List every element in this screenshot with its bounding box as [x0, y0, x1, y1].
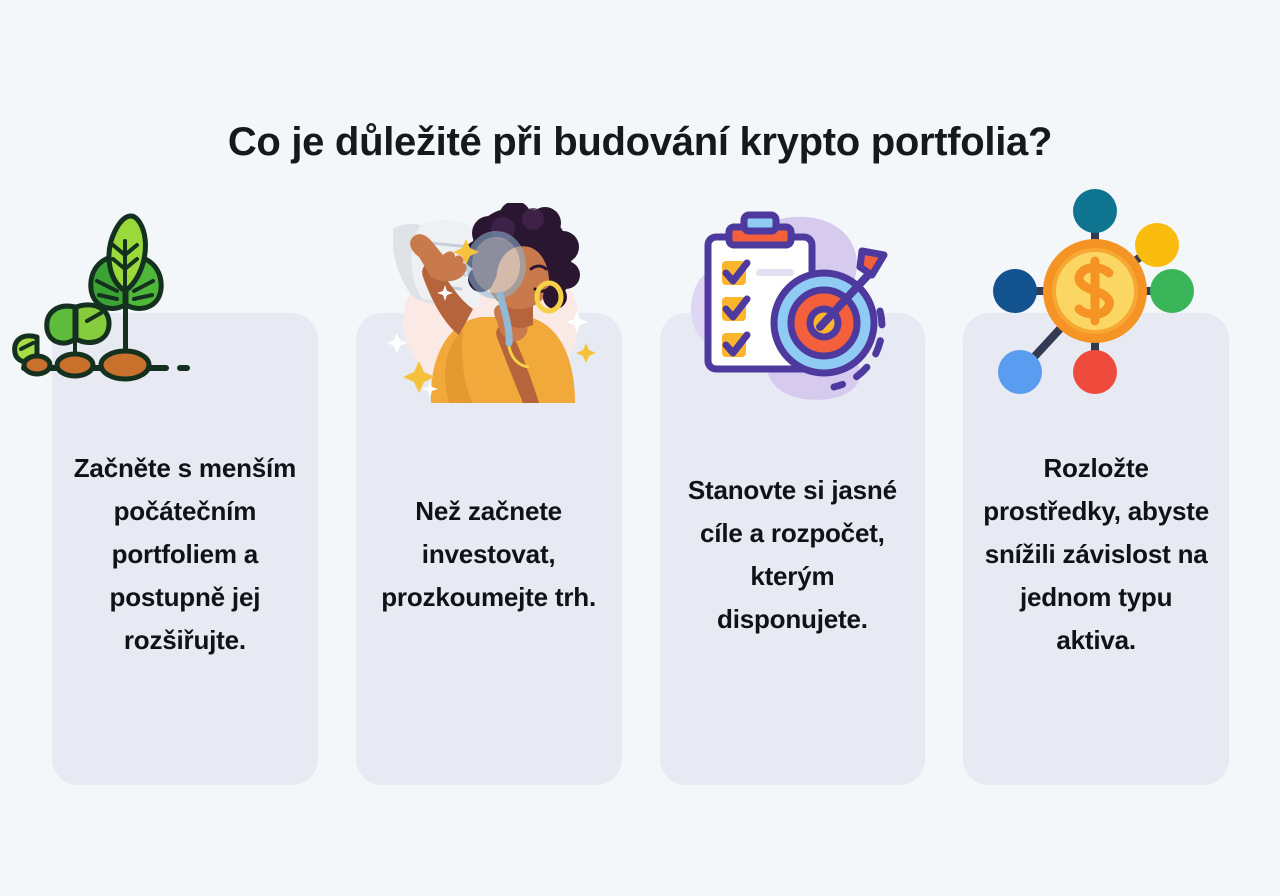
dollar-coin-network-icon: [973, 183, 1218, 398]
growing-plants-icon: [7, 195, 207, 395]
card-research: Než začnete investovat, prozkoumejte trh…: [356, 313, 622, 785]
card-text: Rozložte prostředky, abyste snížili závi…: [977, 447, 1215, 662]
card-text: Stanovte si jasné cíle a rozpočet, který…: [674, 469, 912, 641]
node-red: [1073, 350, 1117, 394]
card-goals: Stanovte si jasné cíle a rozpočet, který…: [660, 313, 926, 785]
card-growth: Začněte s menším počátečním portfoliem a…: [52, 313, 318, 785]
node-lightblue: [998, 350, 1042, 394]
infographic-page: Co je důležité při budování krypto portf…: [0, 0, 1280, 896]
woman-with-document-and-magnifier-icon: [363, 203, 608, 403]
card-text: Začněte s menším počátečním portfoliem a…: [66, 447, 304, 662]
node-green: [1150, 269, 1194, 313]
page-title: Co je důležité při budování krypto portf…: [0, 119, 1280, 165]
node-yellow: [1135, 223, 1179, 267]
node-darkblue: [993, 269, 1037, 313]
clipboard-checklist-and-target-icon: [684, 211, 909, 401]
card-diversify: Rozložte prostředky, abyste snížili závi…: [963, 313, 1229, 785]
node-teal: [1073, 189, 1117, 233]
cards-row: Začněte s menším počátečním portfoliem a…: [52, 313, 1229, 785]
card-text: Než začnete investovat, prozkoumejte trh…: [370, 490, 608, 619]
